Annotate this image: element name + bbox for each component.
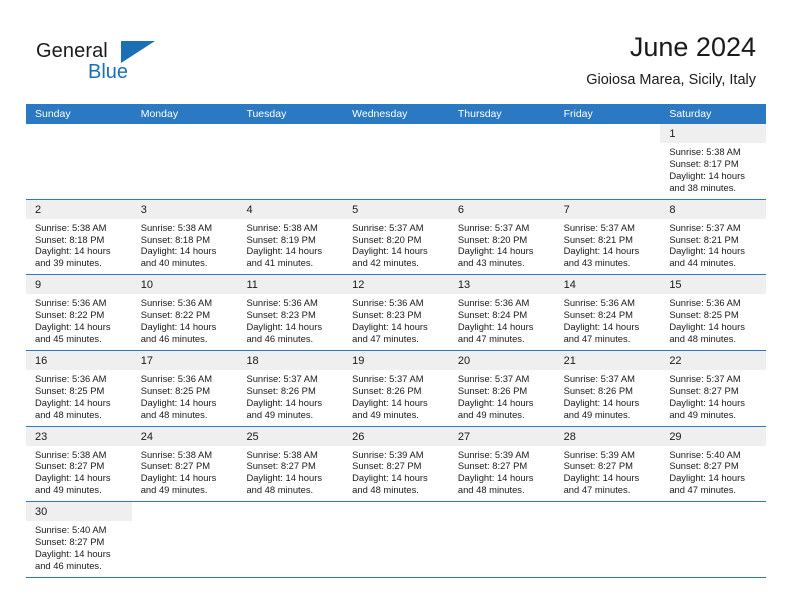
day-detail-line: Daylight: 14 hours: [141, 472, 232, 484]
day-number-band: 11: [237, 275, 343, 294]
day-detail-line: Sunset: 8:26 PM: [458, 385, 549, 397]
day-detail-line: Sunrise: 5:37 AM: [669, 373, 760, 385]
day-details: [237, 143, 343, 151]
day-details: Sunrise: 5:39 AMSunset: 8:27 PMDaylight:…: [343, 446, 449, 502]
day-detail-line: Sunrise: 5:40 AM: [35, 524, 126, 536]
day-detail-line: and 45 minutes.: [35, 333, 126, 345]
day-number-band: 28: [555, 427, 661, 446]
calendar-page: General Blue June 2024 Gioiosa Marea, Si…: [0, 0, 792, 612]
day-cell-24[interactable]: 24Sunrise: 5:38 AMSunset: 8:27 PMDayligh…: [132, 427, 238, 502]
day-detail-line: Sunset: 8:25 PM: [141, 385, 232, 397]
day-number-band: 23: [26, 427, 132, 446]
day-detail-line: Sunrise: 5:36 AM: [669, 297, 760, 309]
day-detail-line: and 47 minutes.: [352, 333, 443, 345]
day-cell-1[interactable]: 1Sunrise: 5:38 AMSunset: 8:17 PMDaylight…: [660, 124, 766, 199]
day-cell-empty: [449, 502, 555, 577]
day-detail-line: Daylight: 14 hours: [246, 397, 337, 409]
day-cell-18[interactable]: 18Sunrise: 5:37 AMSunset: 8:26 PMDayligh…: [237, 351, 343, 426]
calendar-week-row: 23Sunrise: 5:38 AMSunset: 8:27 PMDayligh…: [26, 427, 766, 503]
day-cell-16[interactable]: 16Sunrise: 5:36 AMSunset: 8:25 PMDayligh…: [26, 351, 132, 426]
day-detail-line: and 47 minutes.: [564, 484, 655, 496]
day-cell-28[interactable]: 28Sunrise: 5:39 AMSunset: 8:27 PMDayligh…: [555, 427, 661, 502]
day-detail-line: and 49 minutes.: [564, 409, 655, 421]
day-detail-line: Sunset: 8:25 PM: [669, 309, 760, 321]
day-detail-line: Daylight: 14 hours: [35, 245, 126, 257]
weekday-header-wednesday: Wednesday: [343, 104, 449, 124]
day-details: Sunrise: 5:37 AMSunset: 8:21 PMDaylight:…: [555, 219, 661, 275]
day-details: Sunrise: 5:37 AMSunset: 8:20 PMDaylight:…: [343, 219, 449, 275]
day-details: Sunrise: 5:36 AMSunset: 8:25 PMDaylight:…: [132, 370, 238, 426]
day-details: Sunrise: 5:38 AMSunset: 8:27 PMDaylight:…: [237, 446, 343, 502]
day-detail-line: Sunrise: 5:38 AM: [246, 222, 337, 234]
day-details: Sunrise: 5:36 AMSunset: 8:22 PMDaylight:…: [132, 294, 238, 350]
day-number: 18: [246, 355, 258, 367]
day-detail-line: Sunset: 8:27 PM: [35, 460, 126, 472]
day-details: Sunrise: 5:37 AMSunset: 8:26 PMDaylight:…: [237, 370, 343, 426]
day-number-band: 21: [555, 351, 661, 370]
day-number: 30: [35, 506, 47, 518]
day-detail-line: Sunrise: 5:36 AM: [141, 373, 232, 385]
day-detail-line: Daylight: 14 hours: [458, 245, 549, 257]
day-number-band: 30: [26, 502, 132, 521]
day-detail-line: Daylight: 14 hours: [564, 245, 655, 257]
day-number: 3: [141, 204, 147, 216]
calendar-week-row: 16Sunrise: 5:36 AMSunset: 8:25 PMDayligh…: [26, 351, 766, 427]
day-number-band: [132, 502, 238, 521]
day-cell-6[interactable]: 6Sunrise: 5:37 AMSunset: 8:20 PMDaylight…: [449, 200, 555, 275]
day-detail-line: Sunrise: 5:36 AM: [458, 297, 549, 309]
day-details: [555, 143, 661, 151]
day-number-band: 16: [26, 351, 132, 370]
calendar-week-row: 9Sunrise: 5:36 AMSunset: 8:22 PMDaylight…: [26, 275, 766, 351]
day-detail-line: Sunrise: 5:37 AM: [352, 222, 443, 234]
day-detail-line: Sunrise: 5:38 AM: [141, 449, 232, 461]
day-number: 1: [669, 128, 675, 140]
day-number: 17: [141, 355, 153, 367]
day-number-band: 9: [26, 275, 132, 294]
day-detail-line: Sunset: 8:26 PM: [246, 385, 337, 397]
day-detail-line: Sunset: 8:27 PM: [564, 460, 655, 472]
day-detail-line: Sunset: 8:26 PM: [352, 385, 443, 397]
day-cell-11[interactable]: 11Sunrise: 5:36 AMSunset: 8:23 PMDayligh…: [237, 275, 343, 350]
day-detail-line: Sunrise: 5:36 AM: [564, 297, 655, 309]
day-details: Sunrise: 5:38 AMSunset: 8:18 PMDaylight:…: [26, 219, 132, 275]
day-details: Sunrise: 5:36 AMSunset: 8:25 PMDaylight:…: [26, 370, 132, 426]
day-details: Sunrise: 5:38 AMSunset: 8:27 PMDaylight:…: [26, 446, 132, 502]
day-cell-9[interactable]: 9Sunrise: 5:36 AMSunset: 8:22 PMDaylight…: [26, 275, 132, 350]
day-details: Sunrise: 5:36 AMSunset: 8:24 PMDaylight:…: [449, 294, 555, 350]
day-cell-21[interactable]: 21Sunrise: 5:37 AMSunset: 8:26 PMDayligh…: [555, 351, 661, 426]
day-number: 22: [669, 355, 681, 367]
day-cell-14[interactable]: 14Sunrise: 5:36 AMSunset: 8:24 PMDayligh…: [555, 275, 661, 350]
day-cell-19[interactable]: 19Sunrise: 5:37 AMSunset: 8:26 PMDayligh…: [343, 351, 449, 426]
day-details: Sunrise: 5:38 AMSunset: 8:17 PMDaylight:…: [660, 143, 766, 199]
day-detail-line: Sunrise: 5:39 AM: [458, 449, 549, 461]
day-detail-line: Sunrise: 5:36 AM: [246, 297, 337, 309]
day-detail-line: Sunset: 8:23 PM: [352, 309, 443, 321]
day-detail-line: Daylight: 14 hours: [564, 321, 655, 333]
day-cell-8[interactable]: 8Sunrise: 5:37 AMSunset: 8:21 PMDaylight…: [660, 200, 766, 275]
day-detail-line: Sunset: 8:21 PM: [669, 234, 760, 246]
day-detail-line: Sunrise: 5:39 AM: [564, 449, 655, 461]
day-details: [449, 143, 555, 151]
day-cell-26[interactable]: 26Sunrise: 5:39 AMSunset: 8:27 PMDayligh…: [343, 427, 449, 502]
day-details: Sunrise: 5:37 AMSunset: 8:21 PMDaylight:…: [660, 219, 766, 275]
day-number: 4: [246, 204, 252, 216]
day-cell-empty: [343, 124, 449, 199]
day-cell-20[interactable]: 20Sunrise: 5:37 AMSunset: 8:26 PMDayligh…: [449, 351, 555, 426]
day-detail-line: and 49 minutes.: [35, 484, 126, 496]
day-detail-line: Sunrise: 5:38 AM: [35, 449, 126, 461]
day-number: 15: [669, 279, 681, 291]
day-number: 27: [458, 431, 470, 443]
day-details: [343, 143, 449, 151]
day-detail-line: Daylight: 14 hours: [35, 472, 126, 484]
day-detail-line: and 38 minutes.: [669, 182, 760, 194]
day-number-band: [237, 502, 343, 521]
day-detail-line: and 42 minutes.: [352, 257, 443, 269]
day-cell-empty: [132, 124, 238, 199]
day-number-band: 8: [660, 200, 766, 219]
day-detail-line: Sunrise: 5:37 AM: [246, 373, 337, 385]
day-number: 13: [458, 279, 470, 291]
day-cell-23[interactable]: 23Sunrise: 5:38 AMSunset: 8:27 PMDayligh…: [26, 427, 132, 502]
day-details: [132, 143, 238, 151]
day-number: 7: [564, 204, 570, 216]
day-detail-line: and 48 minutes.: [352, 484, 443, 496]
day-number: 23: [35, 431, 47, 443]
weekday-header-monday: Monday: [132, 104, 238, 124]
day-details: [237, 521, 343, 529]
day-details: Sunrise: 5:37 AMSunset: 8:20 PMDaylight:…: [449, 219, 555, 275]
day-number-band: [237, 124, 343, 143]
day-details: [132, 521, 238, 529]
day-detail-line: and 47 minutes.: [564, 333, 655, 345]
day-number: 25: [246, 431, 258, 443]
day-cell-25[interactable]: 25Sunrise: 5:38 AMSunset: 8:27 PMDayligh…: [237, 427, 343, 502]
day-number-band: 14: [555, 275, 661, 294]
day-detail-line: and 48 minutes.: [669, 333, 760, 345]
day-detail-line: and 49 minutes.: [141, 484, 232, 496]
day-number-band: 17: [132, 351, 238, 370]
day-detail-line: Sunset: 8:27 PM: [669, 385, 760, 397]
day-cell-7[interactable]: 7Sunrise: 5:37 AMSunset: 8:21 PMDaylight…: [555, 200, 661, 275]
day-detail-line: Daylight: 14 hours: [669, 472, 760, 484]
day-detail-line: Daylight: 14 hours: [352, 472, 443, 484]
day-details: Sunrise: 5:37 AMSunset: 8:27 PMDaylight:…: [660, 370, 766, 426]
day-detail-line: and 49 minutes.: [669, 409, 760, 421]
day-detail-line: and 48 minutes.: [458, 484, 549, 496]
day-detail-line: Daylight: 14 hours: [35, 397, 126, 409]
day-cell-empty: [26, 124, 132, 199]
day-detail-line: and 43 minutes.: [564, 257, 655, 269]
day-detail-line: Daylight: 14 hours: [564, 472, 655, 484]
day-detail-line: and 46 minutes.: [246, 333, 337, 345]
day-detail-line: and 48 minutes.: [246, 484, 337, 496]
day-number-band: [449, 502, 555, 521]
day-detail-line: Daylight: 14 hours: [141, 321, 232, 333]
day-details: [26, 143, 132, 151]
day-number-band: 6: [449, 200, 555, 219]
day-details: Sunrise: 5:40 AMSunset: 8:27 PMDaylight:…: [26, 521, 132, 577]
day-detail-line: Sunset: 8:24 PM: [564, 309, 655, 321]
day-detail-line: Sunrise: 5:38 AM: [669, 146, 760, 158]
calendar-weeks: 1Sunrise: 5:38 AMSunset: 8:17 PMDaylight…: [26, 124, 766, 578]
day-detail-line: and 49 minutes.: [352, 409, 443, 421]
day-detail-line: and 40 minutes.: [141, 257, 232, 269]
day-cell-empty: [555, 124, 661, 199]
day-cell-13[interactable]: 13Sunrise: 5:36 AMSunset: 8:24 PMDayligh…: [449, 275, 555, 350]
day-number-band: [343, 124, 449, 143]
day-details: [343, 521, 449, 529]
day-detail-line: Sunrise: 5:37 AM: [564, 373, 655, 385]
day-number-band: 7: [555, 200, 661, 219]
day-number: 29: [669, 431, 681, 443]
day-detail-line: Daylight: 14 hours: [352, 321, 443, 333]
brand-logo[interactable]: General Blue: [36, 40, 176, 90]
day-detail-line: and 44 minutes.: [669, 257, 760, 269]
day-number-band: [555, 124, 661, 143]
day-cell-4[interactable]: 4Sunrise: 5:38 AMSunset: 8:19 PMDaylight…: [237, 200, 343, 275]
day-number: 2: [35, 204, 41, 216]
day-details: Sunrise: 5:39 AMSunset: 8:27 PMDaylight:…: [449, 446, 555, 502]
day-details: Sunrise: 5:37 AMSunset: 8:26 PMDaylight:…: [555, 370, 661, 426]
day-detail-line: Sunset: 8:24 PM: [458, 309, 549, 321]
day-details: [660, 521, 766, 529]
day-detail-line: Daylight: 14 hours: [458, 472, 549, 484]
calendar-week-row: 30Sunrise: 5:40 AMSunset: 8:27 PMDayligh…: [26, 502, 766, 578]
day-number: 12: [352, 279, 364, 291]
day-detail-line: Sunset: 8:26 PM: [564, 385, 655, 397]
day-details: Sunrise: 5:36 AMSunset: 8:23 PMDaylight:…: [237, 294, 343, 350]
day-detail-line: Daylight: 14 hours: [246, 472, 337, 484]
day-number-band: [132, 124, 238, 143]
day-detail-line: Sunset: 8:27 PM: [669, 460, 760, 472]
day-cell-empty: [660, 502, 766, 577]
day-detail-line: Daylight: 14 hours: [246, 321, 337, 333]
day-cell-5[interactable]: 5Sunrise: 5:37 AMSunset: 8:20 PMDaylight…: [343, 200, 449, 275]
day-detail-line: Daylight: 14 hours: [669, 321, 760, 333]
day-number: 6: [458, 204, 464, 216]
day-number-band: 18: [237, 351, 343, 370]
day-cell-empty: [343, 502, 449, 577]
day-number: 16: [35, 355, 47, 367]
day-details: Sunrise: 5:36 AMSunset: 8:22 PMDaylight:…: [26, 294, 132, 350]
day-number: 5: [352, 204, 358, 216]
day-detail-line: Sunset: 8:27 PM: [246, 460, 337, 472]
day-detail-line: Daylight: 14 hours: [141, 397, 232, 409]
day-number: 28: [564, 431, 576, 443]
day-number: 19: [352, 355, 364, 367]
day-number: 8: [669, 204, 675, 216]
day-details: [555, 521, 661, 529]
day-number-band: 3: [132, 200, 238, 219]
day-detail-line: Sunset: 8:19 PM: [246, 234, 337, 246]
day-detail-line: Sunrise: 5:38 AM: [246, 449, 337, 461]
day-detail-line: Sunset: 8:20 PM: [352, 234, 443, 246]
day-details: Sunrise: 5:36 AMSunset: 8:23 PMDaylight:…: [343, 294, 449, 350]
day-detail-line: Sunset: 8:23 PM: [246, 309, 337, 321]
day-detail-line: Sunset: 8:27 PM: [352, 460, 443, 472]
day-number-band: 15: [660, 275, 766, 294]
day-detail-line: Daylight: 14 hours: [352, 245, 443, 257]
day-detail-line: Sunrise: 5:38 AM: [35, 222, 126, 234]
day-cell-empty: [237, 502, 343, 577]
day-cell-15[interactable]: 15Sunrise: 5:36 AMSunset: 8:25 PMDayligh…: [660, 275, 766, 350]
day-detail-line: Daylight: 14 hours: [35, 321, 126, 333]
day-cell-12[interactable]: 12Sunrise: 5:36 AMSunset: 8:23 PMDayligh…: [343, 275, 449, 350]
day-number-band: [555, 502, 661, 521]
day-number-band: 25: [237, 427, 343, 446]
day-details: [449, 521, 555, 529]
day-detail-line: Sunrise: 5:40 AM: [669, 449, 760, 461]
day-number-band: 2: [26, 200, 132, 219]
day-number: 10: [141, 279, 153, 291]
day-detail-line: and 46 minutes.: [141, 333, 232, 345]
day-detail-line: Daylight: 14 hours: [352, 397, 443, 409]
day-number: 14: [564, 279, 576, 291]
weekday-header-sunday: Sunday: [26, 104, 132, 124]
day-detail-line: Daylight: 14 hours: [669, 397, 760, 409]
day-detail-line: Sunset: 8:17 PM: [669, 158, 760, 170]
day-detail-line: and 47 minutes.: [458, 333, 549, 345]
day-details: Sunrise: 5:36 AMSunset: 8:24 PMDaylight:…: [555, 294, 661, 350]
day-detail-line: Sunset: 8:27 PM: [35, 536, 126, 548]
day-number: 26: [352, 431, 364, 443]
day-number: 24: [141, 431, 153, 443]
day-cell-27[interactable]: 27Sunrise: 5:39 AMSunset: 8:27 PMDayligh…: [449, 427, 555, 502]
day-detail-line: Daylight: 14 hours: [458, 397, 549, 409]
day-number-band: 1: [660, 124, 766, 143]
day-detail-line: and 49 minutes.: [458, 409, 549, 421]
day-detail-line: Sunset: 8:18 PM: [141, 234, 232, 246]
day-detail-line: Sunrise: 5:37 AM: [458, 222, 549, 234]
day-detail-line: Sunrise: 5:39 AM: [352, 449, 443, 461]
day-details: Sunrise: 5:40 AMSunset: 8:27 PMDaylight:…: [660, 446, 766, 502]
day-cell-10[interactable]: 10Sunrise: 5:36 AMSunset: 8:22 PMDayligh…: [132, 275, 238, 350]
day-number: 20: [458, 355, 470, 367]
day-detail-line: Sunrise: 5:36 AM: [35, 297, 126, 309]
day-details: Sunrise: 5:39 AMSunset: 8:27 PMDaylight:…: [555, 446, 661, 502]
day-detail-line: Sunrise: 5:37 AM: [564, 222, 655, 234]
day-number-band: [449, 124, 555, 143]
page-title: June 2024: [586, 30, 756, 64]
day-details: Sunrise: 5:38 AMSunset: 8:19 PMDaylight:…: [237, 219, 343, 275]
day-detail-line: Daylight: 14 hours: [246, 245, 337, 257]
day-detail-line: and 41 minutes.: [246, 257, 337, 269]
day-cell-empty: [555, 502, 661, 577]
day-number-band: 22: [660, 351, 766, 370]
day-detail-line: Sunrise: 5:37 AM: [458, 373, 549, 385]
day-detail-line: Daylight: 14 hours: [35, 548, 126, 560]
day-detail-line: Sunrise: 5:36 AM: [141, 297, 232, 309]
weekday-header-thursday: Thursday: [449, 104, 555, 124]
day-detail-line: Sunset: 8:27 PM: [458, 460, 549, 472]
day-cell-empty: [449, 124, 555, 199]
day-number: 9: [35, 279, 41, 291]
weekday-header-saturday: Saturday: [660, 104, 766, 124]
page-subtitle: Gioiosa Marea, Sicily, Italy: [586, 69, 756, 91]
day-number-band: [26, 124, 132, 143]
day-cell-2[interactable]: 2Sunrise: 5:38 AMSunset: 8:18 PMDaylight…: [26, 200, 132, 275]
day-detail-line: Sunset: 8:18 PM: [35, 234, 126, 246]
day-detail-line: and 46 minutes.: [35, 560, 126, 572]
day-detail-line: and 43 minutes.: [458, 257, 549, 269]
brand-name-blue: Blue: [88, 61, 128, 84]
day-detail-line: Sunset: 8:27 PM: [141, 460, 232, 472]
day-number-band: [343, 502, 449, 521]
day-cell-17[interactable]: 17Sunrise: 5:36 AMSunset: 8:25 PMDayligh…: [132, 351, 238, 426]
page-header: General Blue June 2024 Gioiosa Marea, Si…: [0, 0, 792, 104]
day-details: Sunrise: 5:38 AMSunset: 8:18 PMDaylight:…: [132, 219, 238, 275]
day-number-band: 19: [343, 351, 449, 370]
day-detail-line: Daylight: 14 hours: [458, 321, 549, 333]
day-number-band: 29: [660, 427, 766, 446]
day-detail-line: Daylight: 14 hours: [669, 170, 760, 182]
day-detail-line: Sunset: 8:22 PM: [35, 309, 126, 321]
day-number-band: 4: [237, 200, 343, 219]
day-cell-29[interactable]: 29Sunrise: 5:40 AMSunset: 8:27 PMDayligh…: [660, 427, 766, 502]
brand-name-general: General: [36, 40, 108, 63]
calendar-week-row: 2Sunrise: 5:38 AMSunset: 8:18 PMDaylight…: [26, 200, 766, 276]
day-number-band: [660, 502, 766, 521]
day-detail-line: and 48 minutes.: [141, 409, 232, 421]
day-detail-line: and 48 minutes.: [35, 409, 126, 421]
day-detail-line: and 47 minutes.: [669, 484, 760, 496]
day-detail-line: Sunrise: 5:37 AM: [352, 373, 443, 385]
day-detail-line: Daylight: 14 hours: [669, 245, 760, 257]
day-number: 11: [246, 279, 257, 291]
day-details: Sunrise: 5:37 AMSunset: 8:26 PMDaylight:…: [343, 370, 449, 426]
day-detail-line: Sunrise: 5:38 AM: [141, 222, 232, 234]
day-number-band: 24: [132, 427, 238, 446]
day-number-band: 26: [343, 427, 449, 446]
day-number-band: 27: [449, 427, 555, 446]
day-detail-line: Daylight: 14 hours: [141, 245, 232, 257]
calendar-grid: SundayMondayTuesdayWednesdayThursdayFrid…: [26, 104, 766, 578]
weekday-header-row: SundayMondayTuesdayWednesdayThursdayFrid…: [26, 104, 766, 124]
day-detail-line: and 49 minutes.: [246, 409, 337, 421]
day-detail-line: Sunrise: 5:37 AM: [669, 222, 760, 234]
day-number-band: 5: [343, 200, 449, 219]
day-detail-line: Sunset: 8:20 PM: [458, 234, 549, 246]
day-details: Sunrise: 5:37 AMSunset: 8:26 PMDaylight:…: [449, 370, 555, 426]
calendar-week-row: 1Sunrise: 5:38 AMSunset: 8:17 PMDaylight…: [26, 124, 766, 200]
day-details: Sunrise: 5:38 AMSunset: 8:27 PMDaylight:…: [132, 446, 238, 502]
day-detail-line: Sunrise: 5:36 AM: [35, 373, 126, 385]
title-block: June 2024 Gioiosa Marea, Sicily, Italy: [586, 30, 756, 91]
day-cell-empty: [237, 124, 343, 199]
day-detail-line: and 39 minutes.: [35, 257, 126, 269]
day-number-band: 20: [449, 351, 555, 370]
triangle-flag-icon: [121, 41, 155, 63]
day-cell-22[interactable]: 22Sunrise: 5:37 AMSunset: 8:27 PMDayligh…: [660, 351, 766, 426]
weekday-header-friday: Friday: [555, 104, 661, 124]
day-details: Sunrise: 5:36 AMSunset: 8:25 PMDaylight:…: [660, 294, 766, 350]
day-cell-30[interactable]: 30Sunrise: 5:40 AMSunset: 8:27 PMDayligh…: [26, 502, 132, 577]
day-number-band: 10: [132, 275, 238, 294]
day-number-band: 13: [449, 275, 555, 294]
weekday-header-tuesday: Tuesday: [237, 104, 343, 124]
day-detail-line: Sunset: 8:25 PM: [35, 385, 126, 397]
day-cell-empty: [132, 502, 238, 577]
day-number-band: 12: [343, 275, 449, 294]
day-detail-line: Sunset: 8:22 PM: [141, 309, 232, 321]
day-detail-line: Daylight: 14 hours: [564, 397, 655, 409]
day-detail-line: Sunset: 8:21 PM: [564, 234, 655, 246]
day-detail-line: Sunrise: 5:36 AM: [352, 297, 443, 309]
day-cell-3[interactable]: 3Sunrise: 5:38 AMSunset: 8:18 PMDaylight…: [132, 200, 238, 275]
